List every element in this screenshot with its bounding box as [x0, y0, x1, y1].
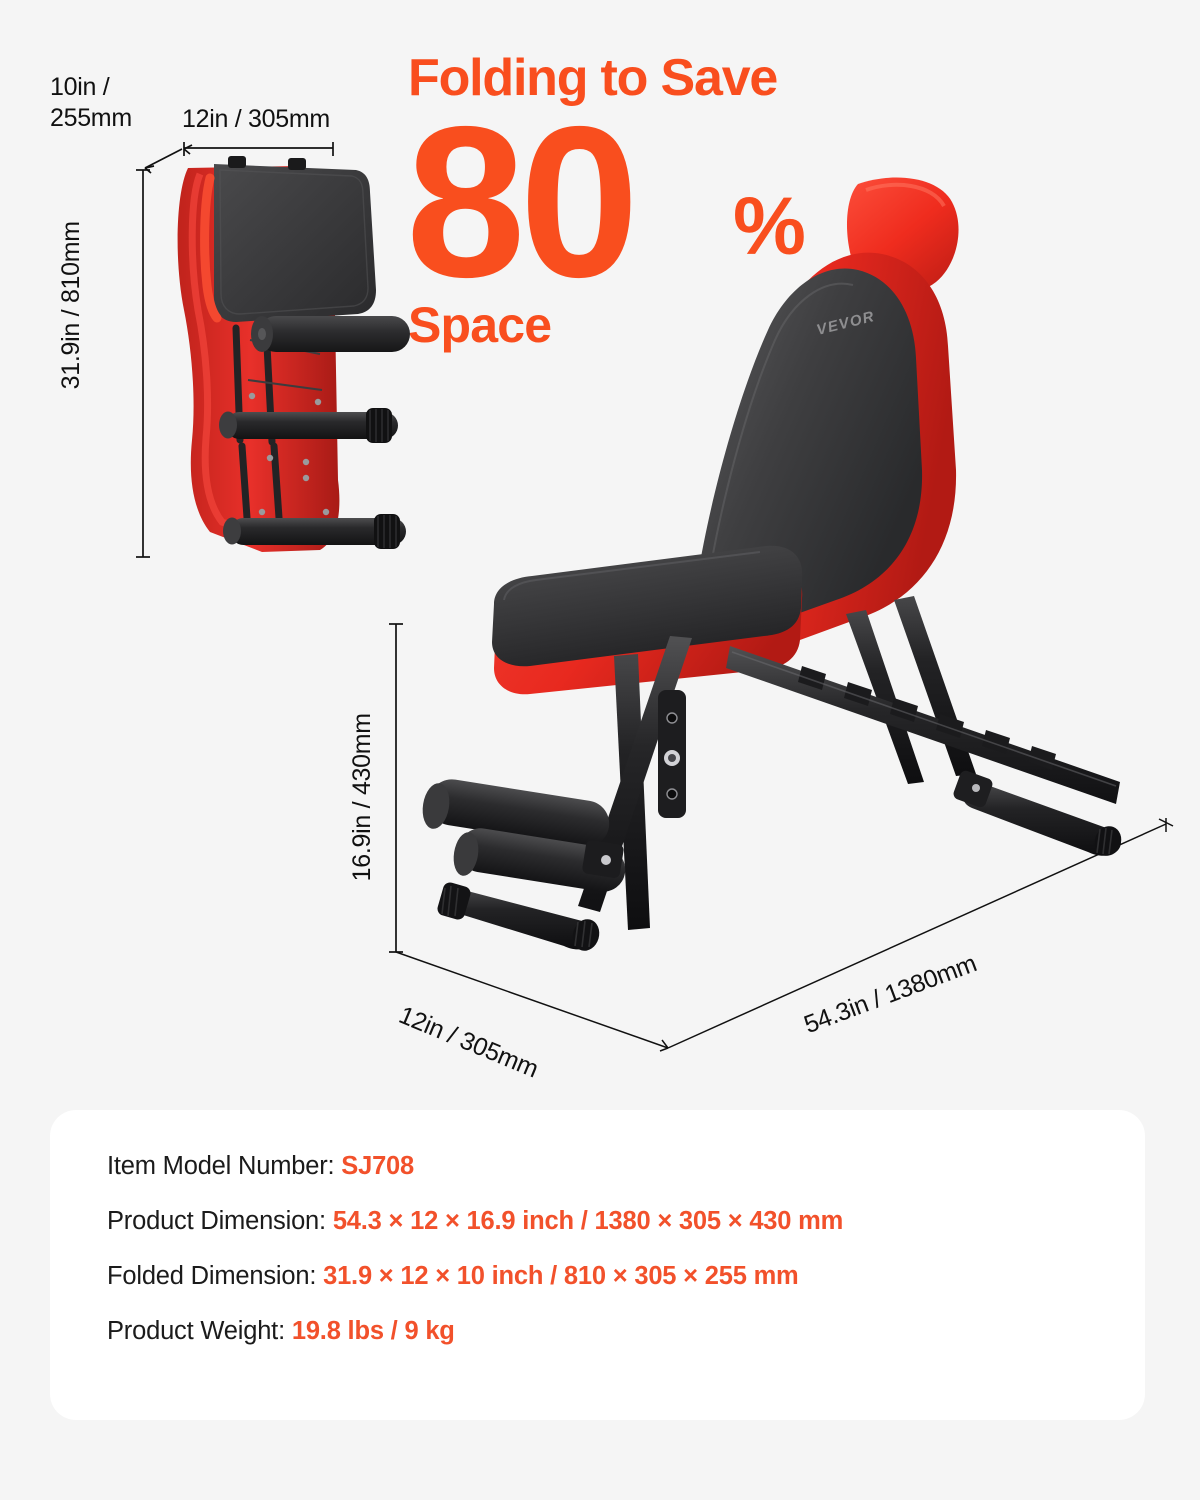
spec-label-model: Item Model Number:: [107, 1152, 341, 1180]
infographic-stage: Folding to Save 80 % Space: [0, 0, 1200, 1500]
spec-value-folded-dimension: 31.9 × 12 × 10 inch / 810 × 305 × 255 mm: [323, 1262, 798, 1290]
folded-length-label: 31.9in / 810mm: [56, 221, 87, 389]
folded-stabilizer-tube-2: [223, 514, 406, 549]
spec-row-product-dimension: Product Dimension: 54.3 × 12 × 16.9 inch…: [107, 1207, 843, 1235]
spec-value-model: SJ708: [341, 1152, 414, 1180]
spec-label-product-dimension: Product Dimension:: [107, 1207, 333, 1235]
spec-row-folded-dimension: Folded Dimension: 31.9 × 12 × 10 inch / …: [107, 1262, 843, 1290]
spec-row-weight: Product Weight: 19.8 lbs / 9 kg: [107, 1317, 843, 1345]
folded-stabilizer-tube-1: [219, 408, 398, 443]
spec-value-weight: 19.8 lbs / 9 kg: [292, 1317, 455, 1345]
folded-width-label: 12in / 305mm: [182, 104, 330, 135]
product-height-label: 16.9in / 430mm: [347, 713, 378, 881]
weight-bench-svg: VEVOR: [400, 170, 1200, 1000]
spec-row-model: Item Model Number: SJ708: [107, 1152, 843, 1180]
weight-bench-image: VEVOR: [400, 170, 1200, 1000]
spec-label-weight: Product Weight:: [107, 1317, 292, 1345]
spec-value-product-dimension: 54.3 × 12 × 16.9 inch / 1380 × 305 × 430…: [333, 1207, 843, 1235]
folded-bench-image: [170, 140, 420, 565]
specification-list: Item Model Number: SJ708 Product Dimensi…: [107, 1152, 843, 1345]
folded-height-label-line2: 255mm: [50, 104, 132, 132]
spec-label-folded-dimension: Folded Dimension:: [107, 1262, 323, 1290]
specification-card: Item Model Number: SJ708 Product Dimensi…: [50, 1110, 1145, 1420]
folded-height-label: 10in / 255mm: [50, 72, 170, 133]
folded-height-label-line1: 10in /: [50, 73, 109, 101]
folded-bench-svg: [170, 140, 420, 565]
leg-hold-foam-rollers: [420, 776, 629, 895]
front-stabilizer-tube: [436, 881, 603, 954]
folded-foam-roller: [251, 316, 410, 352]
